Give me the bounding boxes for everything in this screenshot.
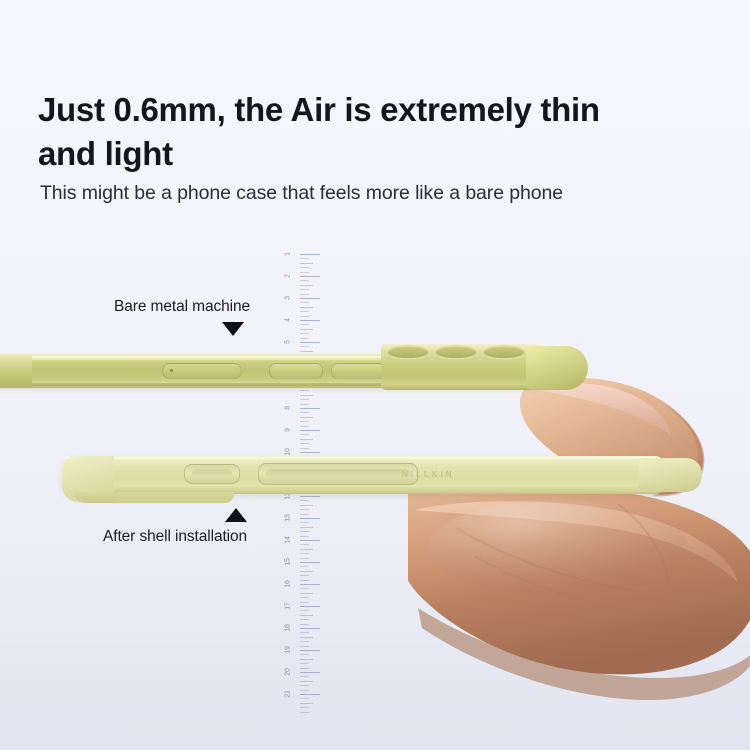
ruler-tick-minor (300, 426, 309, 427)
ruler-tick-minor (300, 421, 309, 422)
ruler-tick-minor (300, 681, 313, 682)
ruler-tick-minor (300, 333, 309, 334)
ruler-tick-major (300, 254, 320, 255)
hand-holding-phone (408, 378, 750, 750)
ruler-tick-minor (300, 646, 309, 647)
ruler-tick-minor (300, 258, 309, 259)
ruler-tick-label: 2 (285, 268, 292, 284)
cased-phone-top-highlight (64, 457, 660, 460)
page-subhead: This might be a phone case that feels mo… (40, 181, 660, 206)
ruler-tick-major (300, 518, 320, 519)
ruler-tick-minor (300, 575, 309, 576)
ruler-tick-minor (300, 624, 309, 625)
ruler-tick-minor (300, 544, 309, 545)
button-cutout-small-inner (192, 469, 232, 478)
sim-eject-hole (170, 369, 173, 372)
ruler-tick-major (300, 606, 320, 607)
bare-phone-side-profile (0, 344, 586, 398)
ruler-tick-minor (300, 531, 309, 532)
ruler-tick-minor (300, 338, 309, 339)
ruler-tick-minor (300, 663, 309, 664)
ruler-tick-minor (300, 641, 309, 642)
ruler-tick-minor (300, 417, 313, 418)
cased-phone-side-profile: NILLKIN (62, 448, 702, 508)
ruler-tick-minor (300, 619, 309, 620)
ruler-tick-minor (300, 527, 313, 528)
ruler-tick-minor (300, 580, 309, 581)
ruler-tick-minor (300, 566, 309, 567)
ruler-tick-label: 14 (285, 532, 292, 548)
ruler-tick-label: 21 (285, 686, 292, 702)
ruler-tick-minor (300, 439, 313, 440)
ruler-tick-minor (300, 324, 309, 325)
camera-lens-ring-2 (434, 345, 478, 360)
ruler-tick-major (300, 276, 320, 277)
case-brand-emboss: NILLKIN (402, 470, 455, 479)
ruler-tick-minor (300, 707, 309, 708)
ruler-tick-minor (300, 549, 313, 550)
ruler-tick-minor (300, 302, 309, 303)
ruler-tick-minor (300, 272, 309, 273)
ruler-tick-minor (300, 685, 309, 686)
ruler-tick-minor (300, 263, 313, 264)
ruler-tick-label: 15 (285, 554, 292, 570)
ruler-tick-major (300, 672, 320, 673)
ruler-tick-label: 19 (285, 642, 292, 658)
ruler-tick-label: 3 (285, 290, 292, 306)
ruler-tick-label: 17 (285, 598, 292, 614)
ruler-tick-major (300, 540, 320, 541)
ruler-tick-minor (300, 637, 313, 638)
triangle-up-icon (225, 508, 247, 522)
ruler-tick-label: 16 (285, 576, 292, 592)
ruler-tick-minor (300, 553, 309, 554)
ruler-tick-minor (300, 509, 309, 510)
ruler-tick-label: 9 (285, 422, 292, 438)
ruler-tick-minor (300, 267, 309, 268)
ruler-tick-minor (300, 698, 309, 699)
ruler-tick-minor (300, 597, 309, 598)
ruler-tick-minor (300, 676, 309, 677)
ruler-tick-minor (300, 703, 313, 704)
ruler-tick-minor (300, 668, 309, 669)
cased-phone-right-corner (638, 458, 702, 492)
bare-phone-right-corner (526, 346, 588, 390)
ruler-tick-minor (300, 404, 309, 405)
ruler-tick-minor (300, 690, 309, 691)
ruler-tick-label: 1 (285, 246, 292, 262)
ruler-tick-minor (300, 311, 309, 312)
ruler-tick-minor (300, 316, 309, 317)
ruler-tick-major (300, 650, 320, 651)
ruler-tick-minor (300, 443, 309, 444)
promo-image: Just 0.6mm, the Air is extremely thin an… (0, 0, 750, 750)
ruler-tick-minor (300, 632, 309, 633)
ruler-tick-minor (300, 602, 309, 603)
callout-cased-label: After shell installation (103, 528, 247, 546)
bare-phone-left-corner (0, 354, 32, 388)
ruler-tick-minor (300, 280, 309, 281)
case-lip (74, 492, 234, 503)
ruler-tick-minor (300, 588, 309, 589)
ruler-tick-minor (300, 329, 313, 330)
volume-button-up (269, 363, 323, 379)
callout-bare-label: Bare metal machine (114, 298, 250, 316)
ruler-tick-minor (300, 593, 313, 594)
camera-lens-ring-3 (482, 345, 526, 360)
ruler-tick-minor (300, 654, 309, 655)
callout-bare-metal-machine: Bare metal machine (114, 298, 250, 336)
ruler-tick-major (300, 562, 320, 563)
ruler-tick-major (300, 320, 320, 321)
ruler-tick-minor (300, 615, 313, 616)
ruler-tick-major (300, 628, 320, 629)
triangle-down-icon (222, 322, 244, 336)
ruler-tick-minor (300, 412, 309, 413)
ruler-tick-minor (300, 659, 313, 660)
ruler-tick-minor (300, 285, 313, 286)
camera-lens-ring-1 (386, 345, 430, 360)
ruler-tick-label: 20 (285, 664, 292, 680)
ruler-tick-minor (300, 399, 309, 400)
ruler-tick-label: 13 (285, 510, 292, 526)
ruler-tick-label: 18 (285, 620, 292, 636)
ruler-tick-major (300, 408, 320, 409)
ruler-tick-minor (300, 712, 309, 713)
ruler-tick-label: 4 (285, 312, 292, 328)
volume-button-down (331, 363, 385, 379)
callout-after-shell-installation: After shell installation (103, 508, 247, 546)
ruler-tick-major (300, 694, 320, 695)
ruler-tick-minor (300, 294, 309, 295)
page-headline: Just 0.6mm, the Air is extremely thin an… (38, 88, 638, 175)
ruler-tick-minor (300, 514, 309, 515)
ruler-tick-major (300, 584, 320, 585)
ruler-tick-major (300, 430, 320, 431)
button-cutout-large-inner (266, 469, 410, 478)
sim-tray (162, 363, 242, 379)
ruler-tick-minor (300, 571, 313, 572)
ruler-tick-minor (300, 610, 309, 611)
ruler-tick-minor (300, 522, 309, 523)
ruler-tick-minor (300, 558, 309, 559)
ruler-tick-label: 8 (285, 400, 292, 416)
ruler-tick-major (300, 298, 320, 299)
ruler-tick-minor (300, 289, 309, 290)
ruler-tick-minor (300, 434, 309, 435)
ruler-tick-minor (300, 536, 309, 537)
ruler-tick-minor (300, 307, 313, 308)
